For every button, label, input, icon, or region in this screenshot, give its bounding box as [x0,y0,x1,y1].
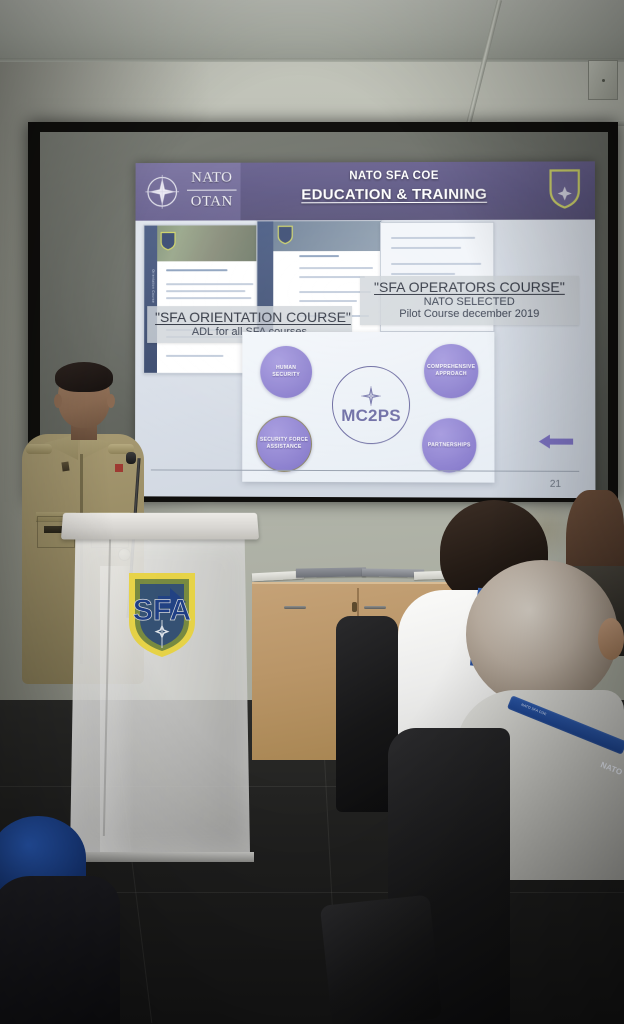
document-text-line [299,255,339,257]
bubble-label: SECURITY FORCEASSISTANCE [260,437,308,451]
document-text-line [391,237,475,239]
sfa-coe-shield-icon [549,168,581,208]
presenter-hair [55,362,113,392]
document-text-line [299,300,357,302]
nato-otan-wordmark: NATO OTAN [183,171,241,210]
document-text-line [391,263,481,265]
mc2ps-center-label: MC2PS [341,406,401,426]
callout-operators-course: "SFA OPERATORS COURSE" NATO SELECTED Pil… [360,276,579,325]
mc2ps-diagram-card: HUMANSECURITY COMPREHENSIVEAPPROACH SECU… [242,332,494,483]
slide-header: NATO OTAN NATO SFA COE EDUCATION & TRAIN… [135,161,595,220]
wall-mounted-box [588,60,618,100]
audience-person-grey-hair-head [466,560,618,708]
foreground-person-dark [0,876,120,1024]
podium: SFA [62,512,258,862]
document-text-line [166,297,251,299]
nato-compass-star-icon [360,385,382,407]
slide-title-block: NATO SFA COE EDUCATION & TRAINING [244,170,544,204]
cabinet-handle-right[interactable] [364,606,386,609]
podium-lectern-top [61,513,259,540]
slide-title-line2: EDUCATION & TRAINING [244,186,544,204]
bubble-partnerships: PARTNERSHIPS [422,418,476,472]
document-text-line [391,247,461,249]
nato-divider [187,190,237,191]
presenter-ear-right [107,394,115,408]
callout-title: "SFA ORIENTATION COURSE" [155,309,344,325]
uniform-rank-insignia [61,462,69,472]
bubble-comprehensive-approach: COMPREHENSIVEAPPROACH [424,344,478,398]
document-text-line [166,269,227,271]
bubble-label: COMPREHENSIVEAPPROACH [427,364,475,378]
conference-room-scene: NATO OTAN NATO SFA COE EDUCATION & TRAIN… [0,0,624,1024]
bubble-human-security: HUMANSECURITY [260,346,312,398]
sfa-shield-icon: SFA [124,568,200,660]
bubble-security-force-assistance: SECURITY FORCEASSISTANCE [256,416,312,472]
papers-on-cabinet [252,566,467,582]
uniform-red-tab [115,464,123,472]
document-text-line [166,355,224,357]
ceiling [0,0,624,62]
office-chair-leg[interactable] [320,895,442,1024]
nato-label: NATO [183,171,241,186]
otan-label: OTAN [183,195,241,210]
left-arrow-icon [539,434,573,450]
presentation-slide: NATO OTAN NATO SFA COE EDUCATION & TRAIN… [135,161,596,498]
bubble-label: PARTNERSHIPS [428,442,471,449]
microphone-icon [126,452,136,464]
document-text-line [391,273,455,275]
audience-person-ear [598,618,624,660]
podium-base [66,852,254,862]
uniform-epaulette-left [26,444,52,454]
presenter-ear-left [54,394,62,408]
cabinet-handle-left[interactable] [284,606,306,609]
callout-subtitle: NATO SELECTED [368,296,571,308]
document-shield-icon [160,232,176,251]
document-text-line [166,283,253,285]
document-text-line [299,276,365,278]
mc2ps-center-circle: MC2PS [332,366,410,444]
callout-detail: Pilot Course december 2019 [368,308,571,320]
document-shield-icon [277,225,293,244]
bubble-label: HUMANSECURITY [272,365,300,379]
callout-title: "SFA OPERATORS COURSE" [368,279,571,295]
document-text-line [166,290,245,292]
nato-compass-star-icon [145,175,179,209]
slide-title-line1: NATO SFA COE [245,170,545,183]
slide-body: Orientation Course [135,220,596,499]
cabinet-lock-icon[interactable] [352,602,357,612]
paper-sheet [296,567,366,577]
document-text-line [299,267,373,269]
document-photo [257,221,381,251]
slide-page-number: 21 [550,479,561,490]
